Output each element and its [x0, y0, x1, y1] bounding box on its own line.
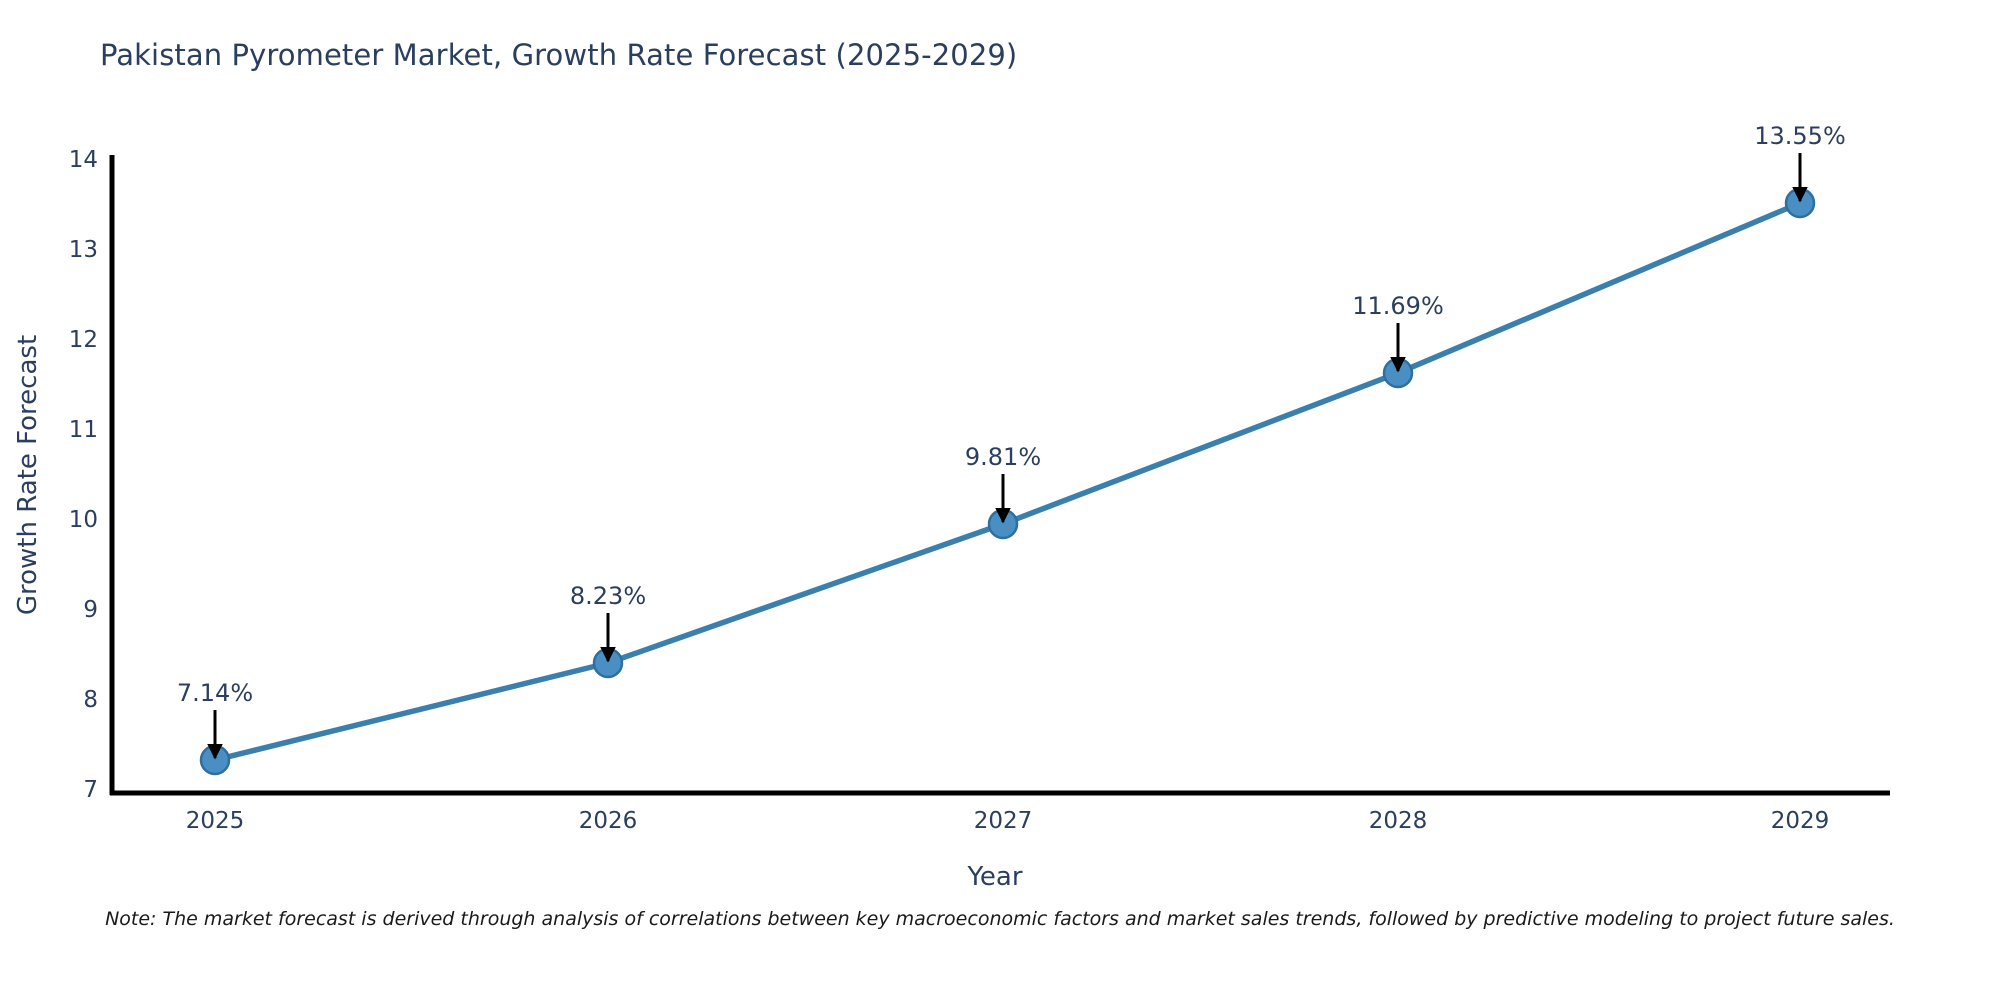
data-point-label: 8.23%: [570, 582, 646, 610]
x-tick-label: 2029: [1771, 808, 1830, 834]
y-tick-label: 11: [40, 417, 98, 443]
x-tick-label: 2028: [1369, 808, 1428, 834]
y-tick-label: 13: [40, 237, 98, 263]
x-tick-label: 2026: [579, 808, 638, 834]
chart-figure: Pakistan Pyrometer Market, Growth Rate F…: [0, 0, 2000, 1000]
data-point-label: 9.81%: [965, 443, 1041, 471]
x-tick-label: 2027: [974, 808, 1033, 834]
y-tick-label: 9: [40, 597, 98, 623]
y-tick-label: 14: [40, 147, 98, 173]
y-tick-label: 7: [40, 777, 98, 803]
y-tick-label: 12: [40, 327, 98, 353]
x-tick-label: 2025: [186, 808, 245, 834]
chart-footnote: Note: The market forecast is derived thr…: [0, 908, 2000, 930]
data-point-label: 13.55%: [1754, 122, 1846, 150]
y-tick-label: 10: [40, 507, 98, 533]
data-point-label: 11.69%: [1352, 292, 1444, 320]
y-tick-label: 8: [40, 687, 98, 713]
data-point-label: 7.14%: [177, 679, 253, 707]
data-line: [215, 203, 1800, 760]
plot-area: [0, 0, 2000, 1000]
